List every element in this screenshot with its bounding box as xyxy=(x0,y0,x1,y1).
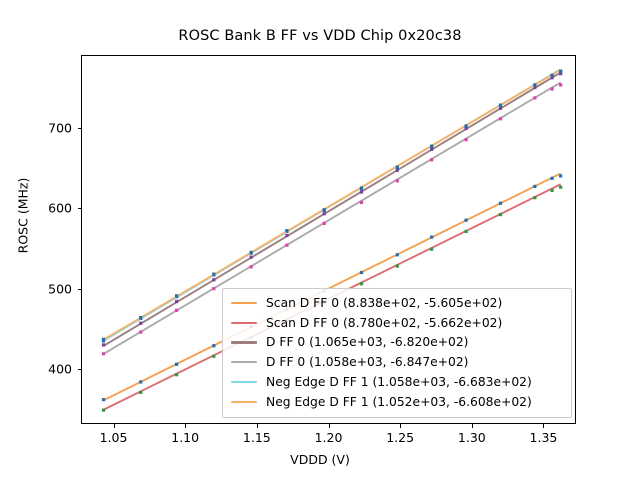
data-point xyxy=(464,230,467,233)
chart-figure: ROSC Bank B FF vs VDD Chip 0x20c38 40050… xyxy=(0,0,640,480)
data-point xyxy=(396,165,399,168)
data-point xyxy=(533,185,536,188)
data-point xyxy=(102,343,105,346)
data-point xyxy=(212,287,215,290)
data-point xyxy=(139,330,142,333)
x-tick-mark xyxy=(257,424,258,428)
data-point xyxy=(139,316,142,319)
x-tick-mark xyxy=(400,424,401,428)
data-point xyxy=(396,264,399,267)
legend-color-swatch xyxy=(231,341,257,343)
data-point xyxy=(175,373,178,376)
legend-item[interactable]: Neg Edge D FF 1 (1.052e+03, -6.608e+02) xyxy=(229,392,565,412)
y-tick-label: 600 xyxy=(0,201,72,216)
data-point xyxy=(550,74,553,77)
data-point xyxy=(430,158,433,161)
legend-label: D FF 0 (1.065e+03, -6.820e+02) xyxy=(266,335,468,349)
data-point xyxy=(430,248,433,251)
chart-legend[interactable]: Scan D FF 0 (8.838e+02, -5.605e+02)Scan … xyxy=(222,288,572,418)
data-point xyxy=(360,190,363,193)
data-point xyxy=(175,300,178,303)
data-point xyxy=(533,83,536,86)
data-point xyxy=(212,355,215,358)
data-point xyxy=(499,103,502,106)
x-tick-label: 1.25 xyxy=(386,430,414,445)
data-point xyxy=(285,229,288,232)
data-point xyxy=(396,253,399,256)
x-tick-label: 1.30 xyxy=(458,430,486,445)
data-point xyxy=(430,235,433,238)
y-tick-label: 500 xyxy=(0,281,72,296)
y-axis-label: ROSC (MHz) xyxy=(16,131,31,301)
y-tick-mark xyxy=(78,128,82,129)
x-tick-mark xyxy=(329,424,330,428)
data-point xyxy=(175,309,178,312)
data-point xyxy=(102,352,105,355)
legend-item[interactable]: Neg Edge D FF 1 (1.058e+03, -6.683e+02) xyxy=(229,372,565,392)
legend-color-swatch xyxy=(231,361,257,363)
legend-label: Neg Edge D FF 1 (1.058e+03, -6.683e+02) xyxy=(266,375,532,389)
data-point xyxy=(323,222,326,225)
data-point xyxy=(323,208,326,211)
data-point xyxy=(139,322,142,325)
x-tick-label: 1.10 xyxy=(171,430,199,445)
data-point xyxy=(430,145,433,148)
data-point xyxy=(175,363,178,366)
data-point xyxy=(464,219,467,222)
x-axis-label: VDDD (V) xyxy=(0,452,640,467)
data-point xyxy=(499,117,502,120)
y-tick-mark xyxy=(78,289,82,290)
data-point xyxy=(250,265,253,268)
legend-label: Scan D FF 0 (8.838e+02, -5.605e+02) xyxy=(266,296,502,310)
legend-color-swatch xyxy=(231,401,257,403)
data-point xyxy=(102,398,105,401)
x-tick-label: 1.05 xyxy=(100,430,128,445)
x-tick-label: 1.20 xyxy=(315,430,343,445)
data-point xyxy=(139,380,142,383)
legend-label: Neg Edge D FF 1 (1.052e+03, -6.608e+02) xyxy=(266,395,532,409)
y-tick-label: 400 xyxy=(0,362,72,377)
chart-title: ROSC Bank B FF vs VDD Chip 0x20c38 xyxy=(0,28,640,44)
legend-item[interactable]: D FF 0 (1.058e+03, -6.847e+02) xyxy=(229,352,565,372)
data-point xyxy=(559,83,562,86)
legend-color-swatch xyxy=(231,302,257,304)
data-point xyxy=(212,273,215,276)
legend-item[interactable]: Scan D FF 0 (8.838e+02, -5.605e+02) xyxy=(229,293,565,313)
data-point xyxy=(323,212,326,215)
legend-color-swatch xyxy=(231,381,257,383)
data-point xyxy=(360,271,363,274)
data-point xyxy=(396,179,399,182)
data-point xyxy=(559,174,562,177)
y-tick-label: 700 xyxy=(0,120,72,135)
x-tick-mark xyxy=(114,424,115,428)
y-tick-mark xyxy=(78,369,82,370)
x-tick-mark xyxy=(185,424,186,428)
data-point xyxy=(559,70,562,73)
data-point xyxy=(464,124,467,127)
data-point xyxy=(550,189,553,192)
legend-color-swatch xyxy=(231,322,257,324)
data-point xyxy=(360,186,363,189)
legend-label: D FF 0 (1.058e+03, -6.847e+02) xyxy=(266,355,468,369)
data-point xyxy=(360,201,363,204)
data-point xyxy=(533,196,536,199)
data-point xyxy=(102,338,105,341)
data-point xyxy=(139,391,142,394)
data-point xyxy=(464,138,467,141)
data-point xyxy=(550,87,553,90)
y-tick-mark xyxy=(78,208,82,209)
data-point xyxy=(499,202,502,205)
legend-item[interactable]: D FF 0 (1.065e+03, -6.820e+02) xyxy=(229,333,565,353)
x-tick-mark xyxy=(472,424,473,428)
data-point xyxy=(285,244,288,247)
data-point xyxy=(360,282,363,285)
data-point xyxy=(250,256,253,259)
data-point xyxy=(285,234,288,237)
data-point xyxy=(533,96,536,99)
legend-item[interactable]: Scan D FF 0 (8.780e+02, -5.662e+02) xyxy=(229,313,565,333)
x-tick-label: 1.35 xyxy=(530,430,558,445)
data-point xyxy=(212,278,215,281)
data-point xyxy=(212,344,215,347)
x-tick-mark xyxy=(543,424,544,428)
data-point xyxy=(102,409,105,412)
data-point xyxy=(550,177,553,180)
data-point xyxy=(559,186,562,189)
legend-label: Scan D FF 0 (8.780e+02, -5.662e+02) xyxy=(266,316,502,330)
data-point xyxy=(250,251,253,254)
data-point xyxy=(499,213,502,216)
x-tick-label: 1.15 xyxy=(243,430,271,445)
data-point xyxy=(175,294,178,297)
